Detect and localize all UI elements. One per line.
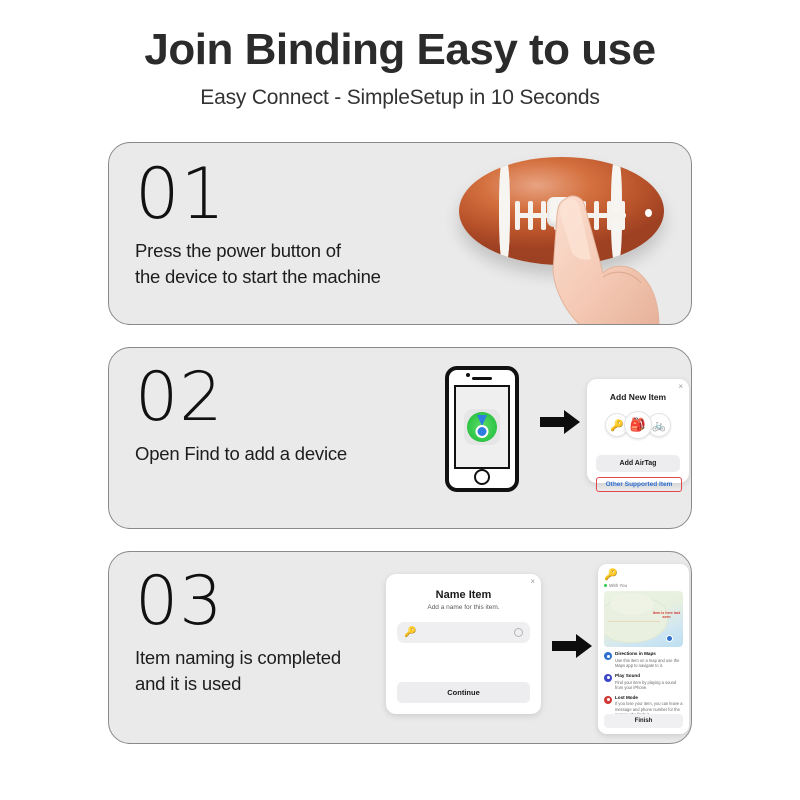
action-row-play-sound[interactable]: Play Sound Find your item by playing a s… <box>604 673 683 691</box>
step-card-01: 01 Press the power button of the device … <box>108 142 692 325</box>
phone-home-button[interactable] <box>474 469 490 485</box>
pointing-finger-icon <box>541 193 661 325</box>
phone-speaker-icon <box>472 377 492 380</box>
map-location-label: Item is here last seen <box>650 611 683 620</box>
item-key-icon: 🔑 <box>604 570 683 581</box>
close-icon[interactable]: × <box>678 383 683 391</box>
arrow-right-icon <box>540 408 580 436</box>
clear-icon[interactable] <box>514 628 523 637</box>
infographic-page: Join Binding Easy to use Easy Connect - … <box>0 0 800 800</box>
step-01-description: Press the power button of the device to … <box>135 238 381 291</box>
map-location-pin-icon <box>666 635 673 642</box>
continue-button[interactable]: Continue <box>397 682 530 703</box>
action-title: Directions in Maps <box>615 651 683 657</box>
map-road-line <box>608 621 660 622</box>
name-item-subtitle: Add a name for this item. <box>397 604 530 611</box>
step-01-text: 01 Press the power button of the device … <box>135 161 381 290</box>
action-row-directions[interactable]: Directions in Maps Use this item on a ma… <box>604 651 683 669</box>
item-type-chips: 🔑 🎒 🚲 <box>596 411 680 439</box>
step-card-02: 02 Open Find to add a device <box>108 347 692 529</box>
map-landmass-secondary <box>610 593 654 615</box>
name-item-dialog: × Name Item Add a name for this item. 🔑 … <box>386 574 541 714</box>
step-03-number: 03 <box>135 570 341 635</box>
page-title: Join Binding Easy to use <box>0 26 800 74</box>
key-icon: 🔑 <box>404 627 416 638</box>
step-03-description: Item naming is completed and it is used <box>135 645 341 698</box>
mini-map[interactable]: Item is here last seen <box>604 591 683 647</box>
directions-icon <box>604 652 612 660</box>
add-airtag-button[interactable]: Add AirTag <box>596 455 680 472</box>
add-new-item-dialog: × Add New Item 🔑 🎒 🚲 Add AirTag Other Su… <box>587 379 689 483</box>
findmy-radar-disc <box>467 412 497 442</box>
action-description: Find your item by playing a sound from y… <box>615 680 683 691</box>
other-supported-item-link[interactable]: Other Supported Item <box>596 477 682 492</box>
action-title: Play Sound <box>615 673 683 679</box>
step-02-description: Open Find to add a device <box>135 441 347 467</box>
findmy-dot-icon <box>476 425 489 438</box>
item-actions-list: Directions in Maps Use this item on a ma… <box>604 651 683 718</box>
play-sound-icon <box>604 674 612 682</box>
status-dot-icon <box>604 584 607 587</box>
name-item-title: Name Item <box>397 589 530 601</box>
step-02-number: 02 <box>135 366 347 431</box>
steps-list: 01 Press the power button of the device … <box>108 142 692 744</box>
findmy-app-icon[interactable] <box>464 409 500 445</box>
page-header: Join Binding Easy to use Easy Connect - … <box>0 0 800 110</box>
item-location-status: With You <box>604 583 683 588</box>
lost-mode-icon <box>604 696 612 704</box>
location-label: With You <box>609 583 627 588</box>
iphone-illustration <box>445 366 519 492</box>
page-subtitle: Easy Connect - SimpleSetup in 10 Seconds <box>0 86 800 110</box>
phone-camera-icon <box>466 373 470 377</box>
football-device-illustration <box>445 143 685 325</box>
phone-screen <box>454 385 510 469</box>
action-title: Lost Mode <box>615 695 683 701</box>
item-detail-map-panel: 🔑 With You Item is here last seen <box>598 564 689 734</box>
step-03-text: 03 Item naming is completed and it is us… <box>135 570 341 697</box>
item-name-input[interactable]: 🔑 <box>397 622 530 643</box>
step-01-number: 01 <box>135 161 381 228</box>
add-item-title: Add New Item <box>596 392 680 402</box>
finish-button[interactable]: Finish <box>604 714 683 728</box>
football-stripe-left <box>499 157 510 265</box>
arrow-right-icon <box>552 632 592 660</box>
step-02-text: 02 Open Find to add a device <box>135 366 347 467</box>
chip-backpack-icon[interactable]: 🎒 <box>624 411 652 439</box>
action-description: Use this item on a map and use the Maps … <box>615 658 683 669</box>
step-card-03: 03 Item naming is completed and it is us… <box>108 551 692 744</box>
close-icon[interactable]: × <box>530 578 535 586</box>
